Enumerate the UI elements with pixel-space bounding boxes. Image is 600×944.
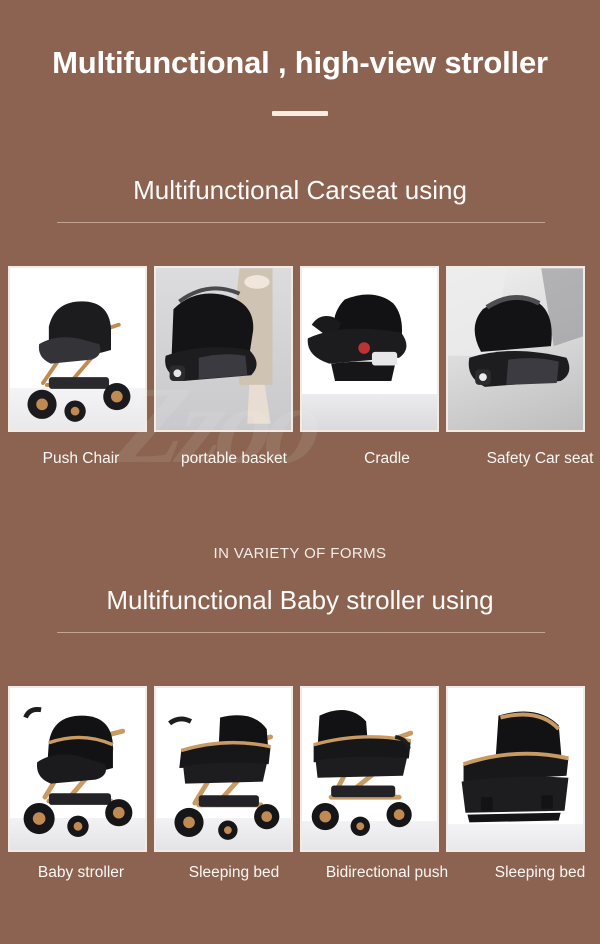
cradle-photo — [302, 268, 437, 430]
section-eyebrow-forms: IN VARIETY OF FORMS — [0, 545, 600, 562]
photo-tile-safety-car-seat[interactable] — [446, 266, 585, 432]
photo-tile-push-chair[interactable] — [8, 266, 147, 432]
section-rule-stroller — [57, 632, 545, 633]
caption-safety-car-seat: Safety Car seat — [467, 450, 600, 468]
photo-tile-cradle[interactable] — [300, 266, 439, 432]
photo-grid-carseat — [8, 266, 585, 432]
caption-sleeping-bed: Sleeping bed — [161, 864, 307, 882]
page-title: Multifunctional , high-view stroller — [0, 45, 600, 81]
section-rule-carseat — [57, 222, 545, 223]
photo-grid-stroller — [8, 686, 585, 852]
sleeping-bed-photo — [156, 688, 291, 850]
caption-baby-stroller: Baby stroller — [8, 864, 154, 882]
photo-tile-baby-stroller[interactable] — [8, 686, 147, 852]
product-marketing-banner: Multifunctional , high-view stroller Mul… — [0, 0, 600, 944]
caption-row-stroller: Baby stroller Sleeping bed Bidirectional… — [8, 864, 600, 882]
bidirectional-push-photo — [302, 688, 437, 850]
caption-push-chair: Push Chair — [8, 450, 154, 468]
caption-cradle: Cradle — [314, 450, 460, 468]
caption-portable-basket: portable basket — [161, 450, 307, 468]
portable-basket-photo — [156, 268, 291, 430]
photo-tile-portable-basket[interactable] — [154, 266, 293, 432]
sleeping-bed-bassinet-photo — [448, 688, 583, 850]
baby-stroller-photo — [10, 688, 145, 850]
caption-bidirectional-push: Bidirectional push — [314, 864, 460, 882]
title-divider — [272, 111, 328, 116]
section-heading-stroller: Multifunctional Baby stroller using — [0, 585, 600, 616]
caption-sleeping-bed-2: Sleeping bed — [467, 864, 600, 882]
caption-row-carseat: Push Chair portable basket Cradle Safety… — [8, 450, 600, 468]
car-seat-photo — [448, 268, 583, 430]
section-heading-carseat: Multifunctional Carseat using — [0, 175, 600, 206]
photo-tile-bidirectional-push[interactable] — [300, 686, 439, 852]
photo-tile-sleeping-bed-bassinet[interactable] — [446, 686, 585, 852]
pushchair-photo — [10, 268, 145, 430]
photo-tile-sleeping-bed[interactable] — [154, 686, 293, 852]
